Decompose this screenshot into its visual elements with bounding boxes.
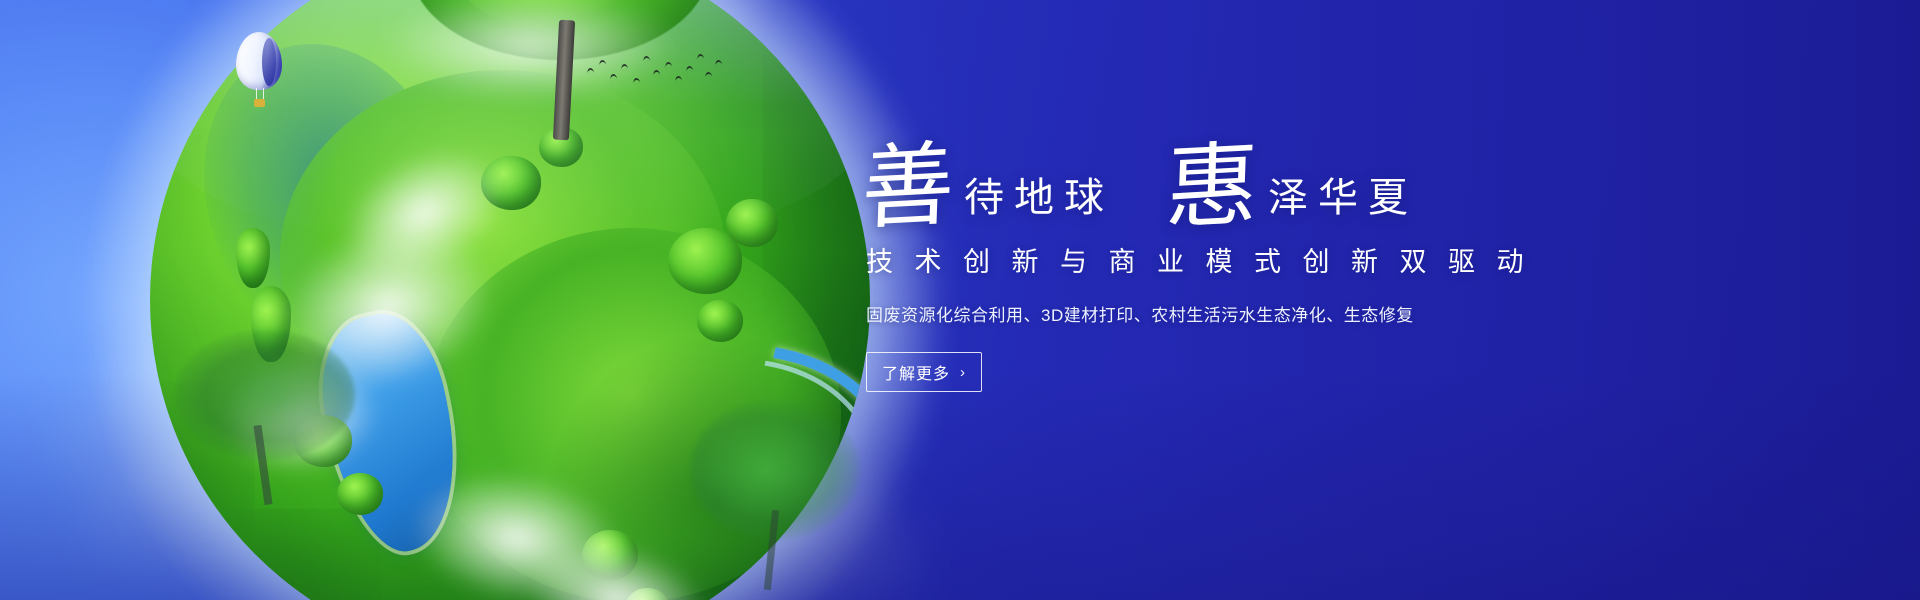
bird-icon bbox=[665, 62, 673, 69]
balloon-stripe bbox=[262, 38, 276, 86]
bird-flock-icon bbox=[585, 48, 725, 96]
bird-icon bbox=[675, 76, 683, 83]
headline: 善 待地球 惠 泽华夏 bbox=[862, 120, 1682, 230]
bird-icon bbox=[643, 56, 651, 63]
tree-canopy bbox=[175, 330, 355, 460]
chevron-right-icon: › bbox=[960, 364, 966, 381]
bird-icon bbox=[599, 60, 607, 67]
hero-content: 善 待地球 惠 泽华夏 技 术 创 新 与 商 业 模 式 创 新 双 驱 动 … bbox=[862, 120, 1682, 392]
left-silhouette-tree bbox=[175, 330, 355, 510]
bird-icon bbox=[686, 66, 694, 73]
bird-icon bbox=[653, 70, 661, 77]
balloon-basket bbox=[254, 99, 265, 107]
right-silhouette-tree bbox=[690, 400, 860, 600]
bird-icon bbox=[621, 64, 629, 71]
headline-rest-2: 泽华夏 bbox=[1268, 178, 1418, 230]
bird-icon bbox=[697, 54, 705, 61]
hero-banner: 善 待地球 惠 泽华夏 技 术 创 新 与 商 业 模 式 创 新 双 驱 动 … bbox=[0, 0, 1920, 600]
headline-phrase-2: 惠 泽华夏 bbox=[1166, 145, 1418, 230]
bird-icon bbox=[610, 74, 618, 81]
learn-more-button[interactable]: 了解更多 › bbox=[866, 352, 982, 392]
headline-big-char-1: 善 bbox=[860, 143, 959, 233]
bird-icon bbox=[715, 60, 723, 67]
headline-phrase-1: 善 待地球 bbox=[862, 145, 1114, 230]
headline-big-char-2: 惠 bbox=[1164, 143, 1263, 233]
bird-icon bbox=[705, 72, 713, 79]
headline-rest-1: 待地球 bbox=[964, 178, 1114, 230]
tree-clump bbox=[697, 300, 743, 342]
learn-more-label: 了解更多 bbox=[882, 360, 950, 384]
bird-icon bbox=[587, 68, 595, 75]
hot-air-balloon-icon bbox=[236, 32, 282, 118]
subtitle: 技 术 创 新 与 商 业 模 式 创 新 双 驱 动 bbox=[866, 240, 1682, 279]
bird-icon bbox=[633, 78, 641, 85]
description: 固废资源化综合利用、3D建材打印、农村生活污水生态净化、生态修复 bbox=[866, 301, 1682, 326]
